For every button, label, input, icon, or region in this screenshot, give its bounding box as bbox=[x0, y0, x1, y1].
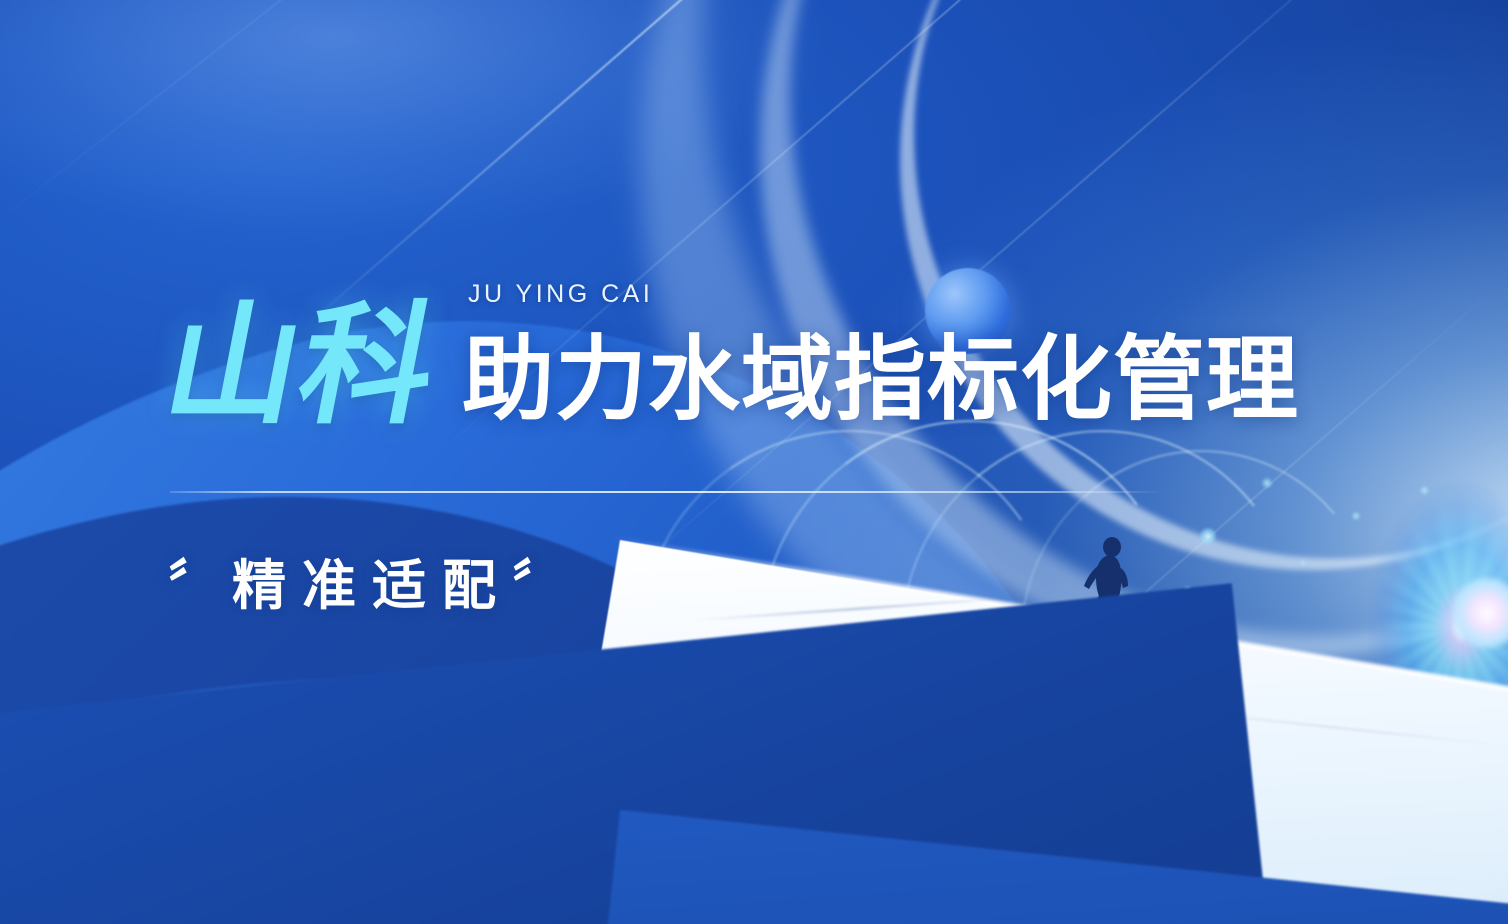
page-title: 助力水域指标化管理 bbox=[462, 334, 1299, 426]
subtitle-text: 精准适配 bbox=[232, 554, 512, 617]
banner-content: 山科 JU YING CAI 助力水域指标化管理 〞精准适配〞 bbox=[0, 0, 1508, 924]
banner-subtitle: 〞精准适配〞 bbox=[168, 541, 576, 620]
subtitle-close-quote: 〞 bbox=[512, 554, 576, 617]
brand-logo-text: 山科 bbox=[155, 300, 449, 432]
headline-block: JU YING CAI 助力水域指标化管理 bbox=[462, 334, 1299, 432]
brand-pinyin: JU YING CAI bbox=[468, 280, 653, 309]
title-row: 山科 JU YING CAI 助力水域指标化管理 bbox=[168, 300, 1299, 432]
title-divider bbox=[170, 491, 1162, 493]
subtitle-open-quote: 〞 bbox=[168, 554, 232, 617]
promo-banner: 山科 JU YING CAI 助力水域指标化管理 〞精准适配〞 bbox=[0, 0, 1508, 924]
